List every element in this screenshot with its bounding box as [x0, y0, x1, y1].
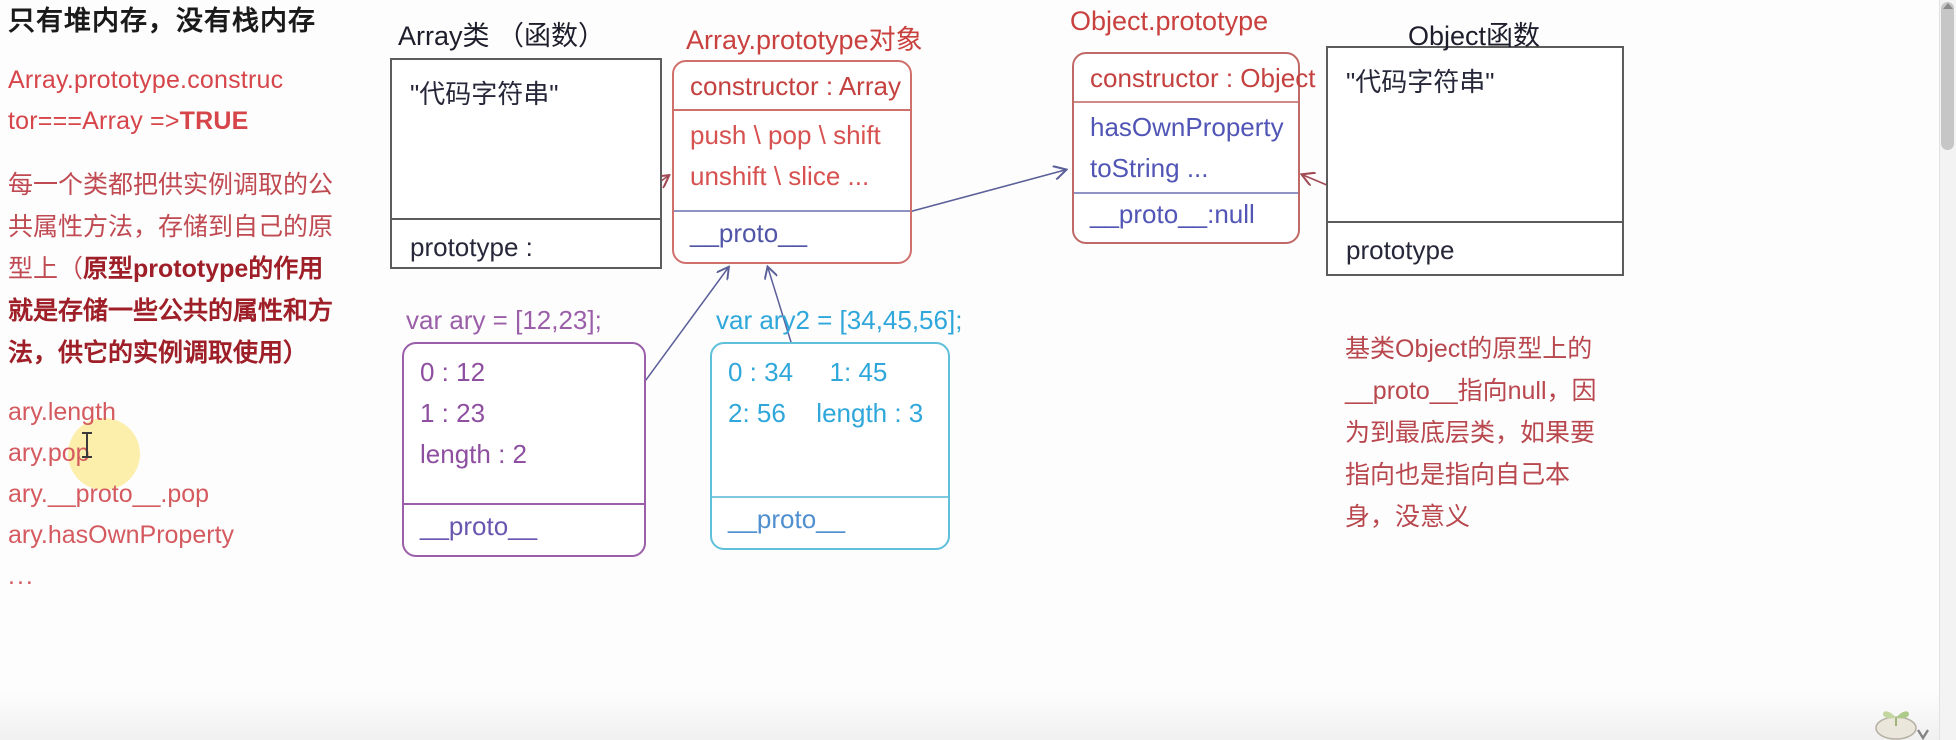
ary-call-list: ary.length ary.pop ary.__proto__.pop ary…: [8, 392, 388, 597]
object-proto-null-note-line-3: 指向也是指向自己本: [1345, 454, 1685, 496]
array-prototype-methods-1: push \ pop \ shift: [690, 115, 896, 156]
ary2-declaration: var ary2 = [34,45,56];: [716, 305, 962, 336]
ary2-proto-row: __proto__: [728, 499, 845, 540]
left-notes-column: 只有堆内存，没有栈内存 Array.prototype.construc tor…: [8, 0, 388, 597]
list-item-ary-pop: ary.pop: [8, 433, 388, 474]
list-item-ary-hasownproperty: ary.hasOwnProperty: [8, 515, 388, 556]
array-function-prototype-row: prototype :: [392, 220, 660, 275]
ary-proto-row: __proto__: [420, 506, 537, 547]
object-proto-null-note-line-0: 基类Object的原型上的: [1345, 328, 1685, 370]
object-prototype-caption: Object.prototype: [1070, 6, 1268, 37]
ary2-instance-box: 0 : 34 1: 45 2: 56 length : 3 __proto__: [710, 342, 950, 550]
prototype-explanation-line-1: 共属性方法，存储到自己的原: [8, 206, 388, 248]
object-prototype-constructor: constructor : Object: [1090, 58, 1284, 99]
array-function-box: "代码字符串" prototype :: [390, 58, 662, 269]
ary-row-length: length : 2: [420, 434, 630, 475]
text-cursor-icon: [86, 432, 88, 458]
scroll-up-arrow-icon[interactable]: [1943, 3, 1953, 9]
page-title: 只有堆内存，没有栈内存: [8, 4, 388, 38]
constructor-assertion: Array.prototype.construc tor===Array =>T…: [8, 60, 388, 142]
prototype-explanation-line-2-bold: 原型prototype的作用: [83, 255, 323, 283]
object-function-box: "代码字符串" prototype: [1326, 46, 1624, 276]
array-prototype-constructor: constructor : Array: [690, 66, 896, 107]
array-prototype-proto-row: __proto__: [690, 213, 807, 254]
constructor-assertion-line2-prefix: tor===Array =>: [8, 107, 180, 135]
object-prototype-methods-2: toString ...: [1090, 148, 1284, 189]
object-prototype-methods-1: hasOwnProperty: [1090, 107, 1284, 148]
object-function-caption: Object函数: [1408, 14, 1540, 53]
object-function-prototype-row: prototype: [1328, 223, 1622, 278]
object-function-code-string: "代码字符串": [1328, 48, 1622, 113]
prototype-explanation-line-3: 就是存储一些公共的属性和方: [8, 290, 388, 332]
array-prototype-methods-2: unshift \ slice ...: [690, 156, 896, 197]
object-prototype-box: constructor : Object hasOwnProperty toSt…: [1072, 52, 1300, 244]
ary2-row-0: 0 : 34: [728, 357, 793, 387]
ary2-row-1: 1: 45: [830, 357, 888, 387]
constructor-assertion-line1: Array.prototype.construc: [8, 60, 388, 101]
ary-row-0: 0 : 12: [420, 352, 630, 393]
ary-declaration: var ary = [12,23];: [406, 305, 602, 336]
object-proto-null-note-line-2: 为到最底层类，如果要: [1345, 412, 1685, 454]
vertical-scrollbar-thumb[interactable]: [1941, 2, 1954, 150]
list-item-ary-proto-pop: ary.__proto__.pop: [8, 474, 388, 515]
object-prototype-proto-row: __proto__:null: [1090, 194, 1255, 235]
object-proto-null-note: 基类Object的原型上的 __proto__指向null，因 为到最底层类，如…: [1345, 328, 1685, 538]
prototype-explanation-line-0: 每一个类都把供实例调取的公: [8, 164, 388, 206]
sprout-watermark-icon: [1870, 684, 1932, 740]
whiteboard-canvas: 只有堆内存，没有栈内存 Array.prototype.construc tor…: [0, 0, 1956, 740]
prototype-explanation-line-2-plain: 型上（: [8, 255, 83, 283]
list-ellipsis: ...: [8, 556, 388, 597]
object-proto-null-note-line-4: 身，没意义: [1345, 496, 1685, 538]
array-function-caption: Array类 （函数）: [398, 14, 605, 53]
prototype-explanation: 每一个类都把供实例调取的公 共属性方法，存储到自己的原 型上（原型prototy…: [8, 164, 388, 374]
ary2-row-line-1: 0 : 34 1: 45: [728, 352, 934, 393]
ary2-row-length: length : 3: [816, 398, 923, 428]
constructor-assertion-line2: tor===Array =>TRUE: [8, 101, 388, 142]
ary-instance-box: 0 : 12 1 : 23 length : 2 __proto__: [402, 342, 646, 557]
ary2-row-line-2: 2: 56 length : 3: [728, 393, 934, 434]
ary-row-1: 1 : 23: [420, 393, 630, 434]
array-function-code-string: "代码字符串": [392, 60, 660, 125]
array-prototype-box: constructor : Array push \ pop \ shift u…: [672, 60, 912, 264]
ary2-row-2: 2: 56: [728, 398, 786, 428]
array-prototype-caption: Array.prototype对象: [686, 18, 923, 57]
constructor-assertion-true: TRUE: [180, 107, 249, 135]
bottom-fade-overlay: [0, 692, 1939, 740]
object-proto-null-note-line-1: __proto__指向null，因: [1345, 370, 1685, 412]
prototype-explanation-line-2: 型上（原型prototype的作用: [8, 248, 388, 290]
prototype-explanation-line-4: 法，供它的实例调取使用）: [8, 332, 388, 374]
list-item-ary-length: ary.length: [8, 392, 388, 433]
